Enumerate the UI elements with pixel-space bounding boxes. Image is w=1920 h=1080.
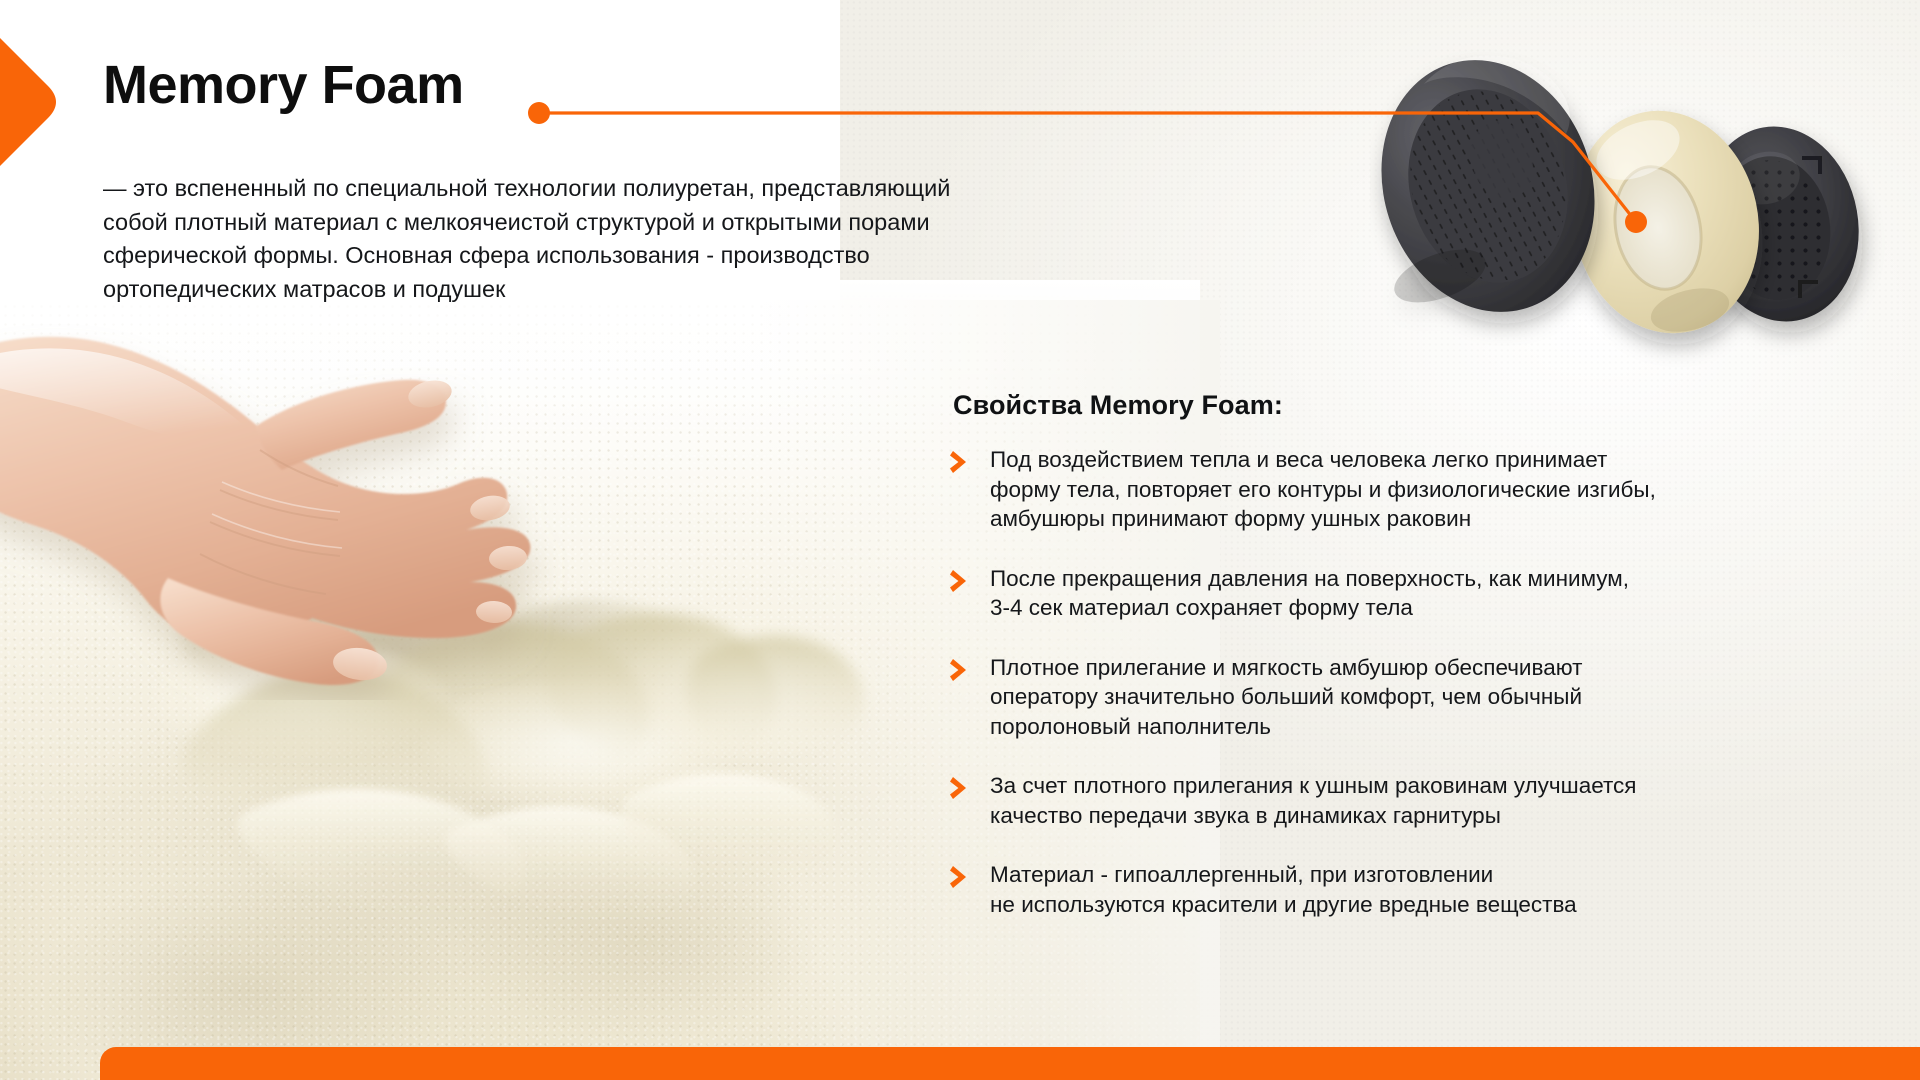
list-item-line: поролоновый наполнитель	[990, 712, 1582, 742]
orange-footer-bar	[100, 1047, 1920, 1080]
list-item-line: Под воздействием тепла и веса человека л…	[990, 445, 1656, 475]
list-item: После прекращения давления на поверхност…	[950, 564, 1870, 623]
list-item-text: Материал - гипоаллергенный, при изготовл…	[990, 860, 1577, 919]
list-item: Плотное прилегание и мягкость амбушюр об…	[950, 653, 1870, 742]
list-item-line: форму тела, повторяет его контуры и физи…	[990, 475, 1656, 505]
list-item-line: 3-4 сек материал сохраняет форму тела	[990, 593, 1629, 623]
list-item-line: Плотное прилегание и мягкость амбушюр об…	[990, 653, 1582, 683]
list-item-line: амбушюры принимают форму ушных раковин	[990, 504, 1656, 534]
hand-illustration	[0, 300, 640, 700]
chevron-right-icon	[950, 564, 976, 599]
chevron-right-icon	[950, 771, 976, 806]
chevron-right-icon	[950, 860, 976, 895]
list-item-text: За счет плотного прилегания к ушным рако…	[990, 771, 1636, 830]
list-item-line: После прекращения давления на поверхност…	[990, 564, 1629, 594]
exploded-headphone-earpad-photo	[1370, 10, 1910, 380]
list-item-text: Плотное прилегание и мягкость амбушюр об…	[990, 653, 1582, 742]
slide-canvas: Memory Foam — это вспененный по специаль…	[0, 0, 1920, 1080]
intro-line: — это вспененный по специальной технолог…	[103, 172, 1253, 206]
intro-line: собой плотный материал с мелкоячеистой с…	[103, 206, 1253, 240]
list-item: Под воздействием тепла и веса человека л…	[950, 445, 1870, 534]
properties-section: Свойства Memory Foam: Под воздействием т…	[950, 390, 1870, 919]
chevron-right-icon	[950, 445, 976, 480]
list-item-line: За счет плотного прилегания к ушным рако…	[990, 771, 1636, 801]
list-item-text: После прекращения давления на поверхност…	[990, 564, 1629, 623]
properties-heading: Свойства Memory Foam:	[953, 390, 1870, 421]
intro-line: сферической формы. Основная сфера исполь…	[103, 239, 1253, 273]
arrow-right-marker-icon	[0, 8, 90, 198]
list-item: Материал - гипоаллергенный, при изготовл…	[950, 860, 1870, 919]
list-item: За счет плотного прилегания к ушным рако…	[950, 771, 1870, 830]
list-item-line: оператору значительно больший комфорт, ч…	[990, 682, 1582, 712]
list-item-line: качество передачи звука в динамиках гарн…	[990, 801, 1636, 831]
list-item-text: Под воздействием тепла и веса человека л…	[990, 445, 1656, 534]
leader-dot-title	[528, 102, 550, 124]
leather-ear-cushion-cover	[1370, 32, 1626, 340]
hand-photo	[0, 300, 640, 700]
page-title: Memory Foam	[103, 58, 464, 112]
list-item-line: Материал - гипоаллергенный, при изготовл…	[990, 860, 1577, 890]
list-item-line: не используются красители и другие вредн…	[990, 890, 1577, 920]
properties-list: Под воздействием тепла и веса человека л…	[950, 445, 1870, 919]
intro-paragraph: — это вспененный по специальной технолог…	[103, 172, 1253, 306]
chevron-right-icon	[950, 653, 976, 688]
intro-line: ортопедических матрасов и подушек	[103, 273, 1253, 307]
